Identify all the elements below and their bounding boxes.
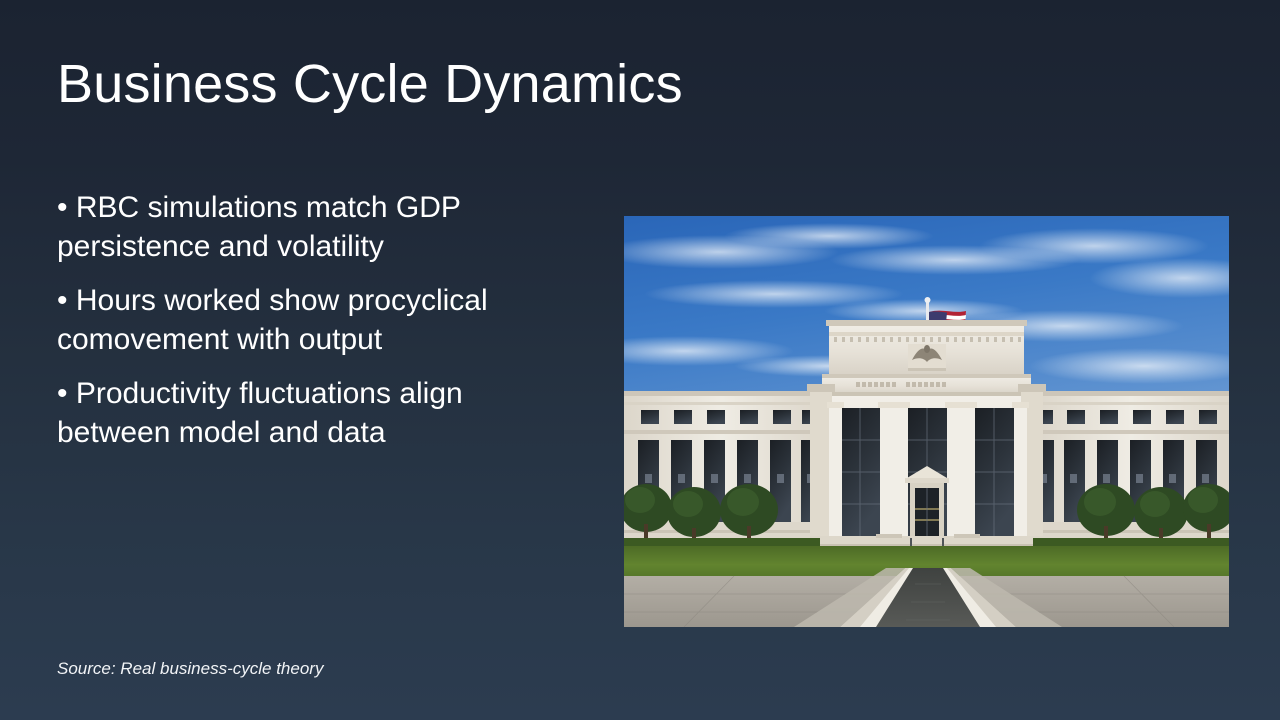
building-illustration (624, 216, 1229, 627)
federal-reserve-building-photo (624, 216, 1229, 627)
bullet-list: • RBC simulations match GDP persistence … (57, 188, 577, 452)
left-hedge (624, 538, 820, 546)
main-entrance (905, 466, 949, 536)
slide-title: Business Cycle Dynamics (57, 52, 683, 116)
presentation-slide: Business Cycle Dynamics • RBC simulation… (0, 0, 1280, 720)
bullet-item: • Hours worked show procyclical comoveme… (57, 281, 577, 359)
building-central-block (807, 320, 1046, 552)
bullet-item: • RBC simulations match GDP persistence … (57, 188, 577, 266)
right-hedge (1033, 538, 1229, 546)
source-note: Source: Real business-cycle theory (57, 657, 323, 681)
eagle-sculpture (908, 344, 946, 371)
bullet-item: • Productivity fluctuations align betwee… (57, 374, 577, 452)
